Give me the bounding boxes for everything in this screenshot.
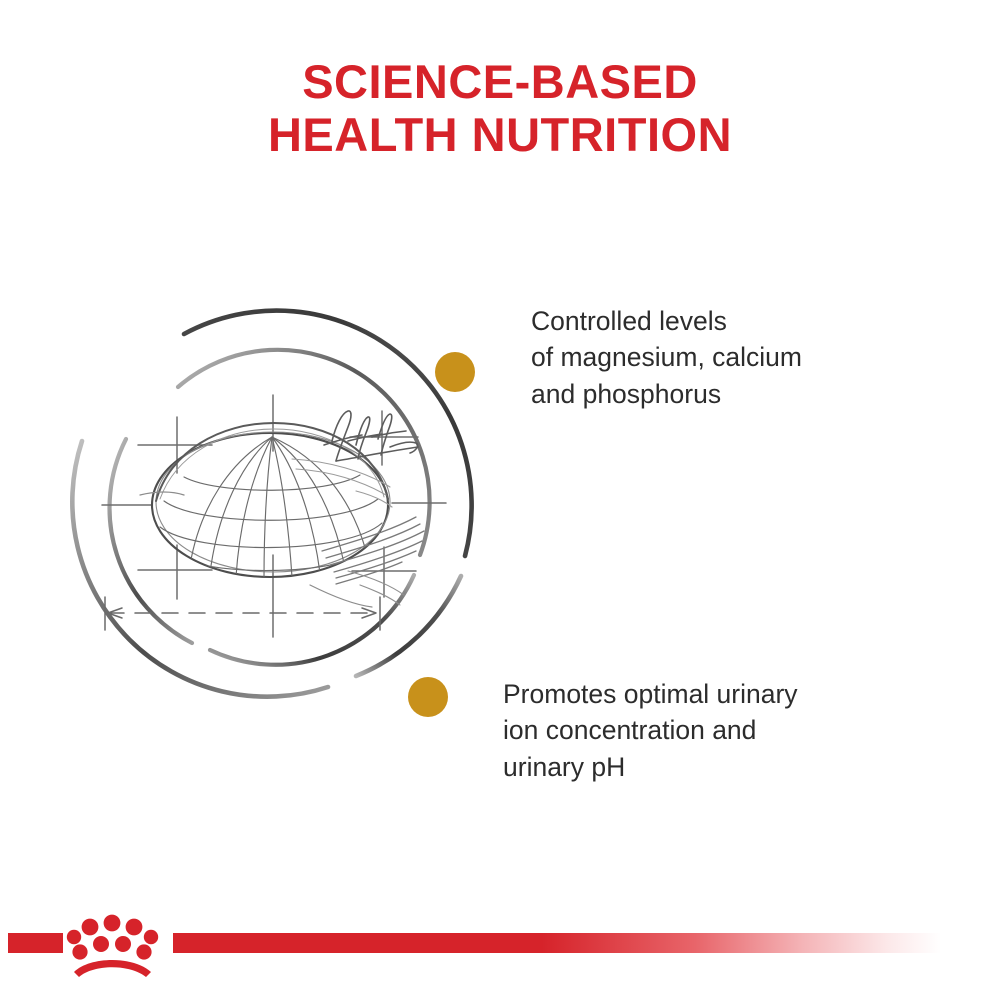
kibble-technical-sketch-graphic — [60, 255, 540, 755]
dimension-line — [105, 597, 380, 630]
page-title-line-2: HEALTH NUTRITION — [0, 109, 1000, 162]
crown-dots — [67, 915, 158, 960]
page-root: SCIENCE-BASED HEALTH NUTRITION — [0, 0, 1000, 1000]
footer-logo-band — [0, 900, 1000, 1000]
graphic-svg — [60, 255, 540, 755]
royal-canin-crown-logo — [60, 900, 170, 980]
inner-ring-arcs — [110, 350, 430, 665]
footer-bar-right — [173, 933, 941, 953]
page-title: SCIENCE-BASED HEALTH NUTRITION — [0, 56, 1000, 161]
crown-base-arc — [74, 960, 151, 977]
page-title-line-1: SCIENCE-BASED — [0, 56, 1000, 109]
footer-bar-left — [8, 933, 63, 953]
bullet-text-2: Promotes optimal urinary ion concentrati… — [503, 676, 903, 785]
bullet-text-1: Controlled levels of magnesium, calcium … — [531, 303, 931, 412]
bullet-marker-dot-1 — [435, 352, 475, 392]
bullet-marker-dot-2 — [408, 677, 448, 717]
